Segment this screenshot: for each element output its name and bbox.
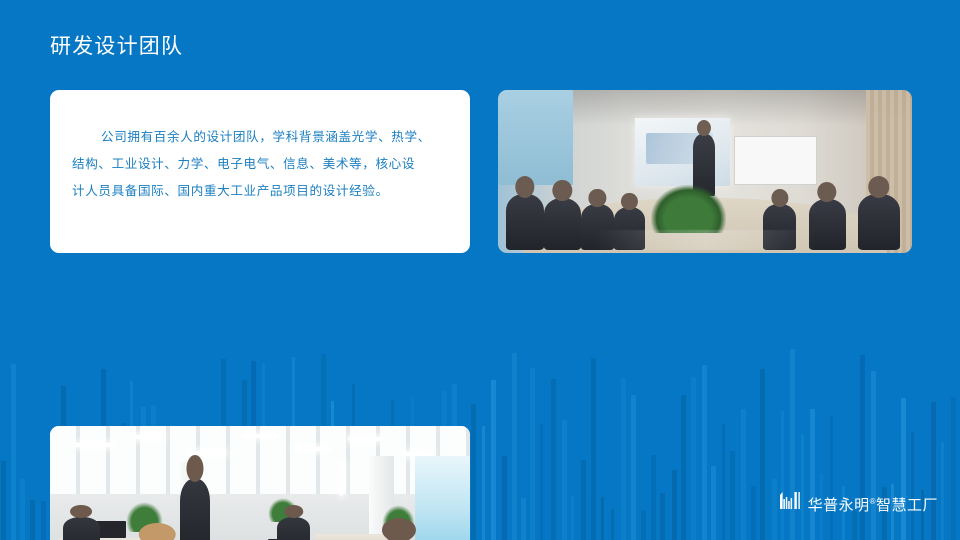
office-worker <box>180 479 209 540</box>
decor-bar <box>651 455 656 540</box>
whiteboard <box>734 136 817 185</box>
attendee-figure <box>544 198 581 250</box>
decor-bar <box>641 510 646 540</box>
content-grid: 公司拥有百余人的设计团队，学科背景涵盖光学、热学、 结构、工业设计、力学、电子电… <box>50 90 912 452</box>
decor-bar <box>772 479 777 540</box>
sub-brand-name: 智慧工厂 <box>876 497 938 514</box>
description-card: 公司拥有百余人的设计团队，学科背景涵盖光学、热学、 结构、工业设计、力学、电子电… <box>50 90 470 253</box>
page-title: 研发设计团队 <box>50 33 183 61</box>
description-line: 结构、工业设计、力学、电子电气、信息、美术等，核心设 <box>72 151 444 178</box>
ceiling-light <box>75 443 113 447</box>
brand-logo-text: 华普永明®智慧工厂 <box>808 493 938 515</box>
decor-bar <box>20 479 25 540</box>
decor-bar <box>41 501 46 540</box>
slide-root: 研发设计团队 公司拥有百余人的设计团队，学科背景涵盖光学、热学、 结构、工业设计… <box>0 0 960 540</box>
decor-bar <box>581 460 586 540</box>
office-window <box>415 456 470 540</box>
attendee-figure <box>506 194 543 249</box>
decor-bar <box>660 493 665 540</box>
ceiling-light <box>243 434 277 438</box>
ceiling-light <box>130 435 164 439</box>
meeting-wall <box>498 90 573 185</box>
attendee-figure <box>858 194 899 249</box>
decor-bar <box>521 498 526 540</box>
decor-bar <box>30 500 35 540</box>
description-line: 公司拥有百余人的设计团队，学科背景涵盖光学、热学、 <box>72 124 444 151</box>
decor-bar <box>11 364 16 540</box>
photo-meeting-room <box>498 90 912 253</box>
huapu-factory-mark-icon <box>780 492 802 517</box>
office-worker <box>63 517 101 540</box>
decor-bar <box>711 466 716 540</box>
decor-bar <box>951 397 956 540</box>
photo-open-office <box>50 426 470 540</box>
decor-bar <box>601 497 604 540</box>
decor-bar <box>730 451 735 540</box>
photo-watermark <box>593 230 817 250</box>
description-line: 计人员具备国际、国内重大工业产品项目的设计经验。 <box>72 178 444 205</box>
decor-bar <box>672 470 677 540</box>
ceiling-light <box>189 451 227 455</box>
brand-name: 华普永明 <box>808 497 870 514</box>
decor-bar <box>502 456 507 540</box>
description-text: 公司拥有百余人的设计团队，学科背景涵盖光学、热学、 结构、工业设计、力学、电子电… <box>72 124 444 205</box>
decor-bar <box>1 461 6 540</box>
office-worker <box>277 517 311 540</box>
table-plant <box>651 185 726 234</box>
projection-screen <box>635 118 730 186</box>
ceiling-light <box>348 437 382 441</box>
brand-logo: 华普永明®智慧工厂 <box>780 492 938 516</box>
decor-bar <box>571 496 574 540</box>
decor-bar <box>751 486 756 540</box>
decor-bar <box>941 442 944 540</box>
decor-bar <box>931 402 936 540</box>
ceiling-light <box>340 462 343 496</box>
decor-bar <box>611 509 614 540</box>
ceiling-light <box>294 447 332 451</box>
